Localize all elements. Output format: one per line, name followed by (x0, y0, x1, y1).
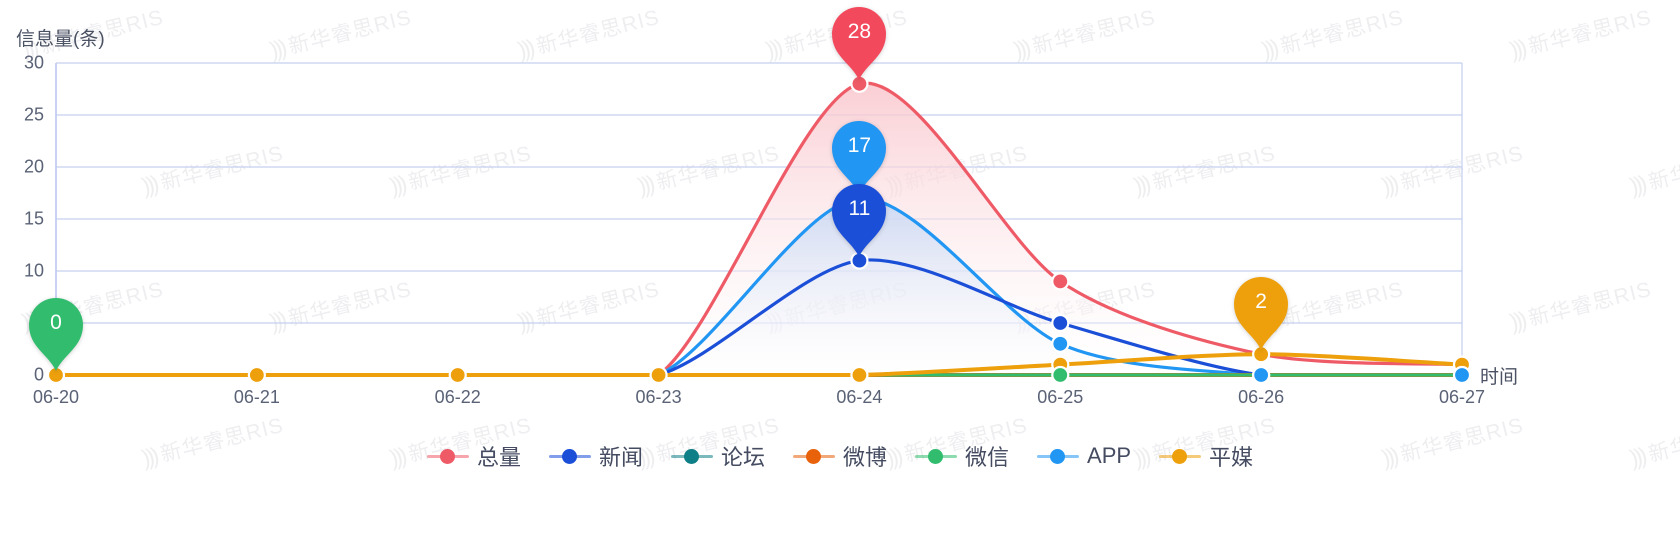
balloon-shape (830, 4, 888, 80)
x-axis-title: 时间 (1480, 362, 1518, 389)
legend-item-平媒[interactable]: 平媒 (1159, 440, 1253, 472)
legend-label: 总量 (477, 440, 521, 472)
x-tick-label: 06-21 (234, 387, 280, 408)
data-label-balloon[interactable]: 28 (830, 4, 888, 80)
y-tick-label: 25 (0, 105, 44, 126)
data-label-balloon[interactable]: 0 (27, 295, 85, 371)
y-tick-label: 10 (0, 261, 44, 282)
x-tick-label: 06-26 (1238, 387, 1284, 408)
legend-marker-icon (549, 446, 591, 466)
balloon-shape (27, 295, 85, 371)
y-tick-label: 15 (0, 209, 44, 230)
legend-item-微信[interactable]: 微信 (915, 440, 1009, 472)
legend-item-新闻[interactable]: 新闻 (549, 440, 643, 472)
data-point[interactable] (1253, 367, 1269, 383)
legend-label: 微博 (843, 440, 887, 472)
x-tick-label: 06-20 (33, 387, 79, 408)
data-point[interactable] (1052, 367, 1068, 383)
legend-item-微博[interactable]: 微博 (793, 440, 887, 472)
data-point[interactable] (1052, 273, 1068, 289)
chart-container: )))新华睿思RIS)))新华睿思RIS)))新华睿思RIS)))新华睿思RIS… (0, 0, 1680, 533)
legend-marker-icon (1159, 446, 1201, 466)
data-point[interactable] (651, 367, 667, 383)
data-point[interactable] (1052, 315, 1068, 331)
legend-label: APP (1087, 443, 1131, 469)
balloon-shape (1232, 274, 1290, 350)
balloon-shape (830, 181, 888, 257)
legend-item-APP[interactable]: APP (1037, 443, 1131, 469)
legend-label: 平媒 (1209, 440, 1253, 472)
data-point[interactable] (851, 367, 867, 383)
y-axis-title: 信息量(条) (16, 24, 105, 51)
data-point[interactable] (450, 367, 466, 383)
data-point[interactable] (249, 367, 265, 383)
legend-label: 新闻 (599, 440, 643, 472)
legend-item-论坛[interactable]: 论坛 (671, 440, 765, 472)
data-point[interactable] (1454, 367, 1470, 383)
y-tick-label: 30 (0, 53, 44, 74)
legend-marker-icon (793, 446, 835, 466)
x-tick-label: 06-25 (1037, 387, 1083, 408)
legend-marker-icon (1037, 446, 1079, 466)
legend-item-总量[interactable]: 总量 (427, 440, 521, 472)
x-tick-label: 06-24 (836, 387, 882, 408)
legend-label: 微信 (965, 440, 1009, 472)
data-label-balloon[interactable]: 2 (1232, 274, 1290, 350)
legend-marker-icon (915, 446, 957, 466)
legend-label: 论坛 (721, 440, 765, 472)
x-tick-label: 06-22 (435, 387, 481, 408)
x-tick-label: 06-27 (1439, 387, 1485, 408)
x-tick-label: 06-23 (636, 387, 682, 408)
chart-legend: 总量新闻论坛微博微信APP平媒 (0, 440, 1680, 472)
legend-marker-icon (671, 446, 713, 466)
data-point[interactable] (1052, 336, 1068, 352)
data-label-balloon[interactable]: 11 (830, 181, 888, 257)
y-tick-label: 20 (0, 157, 44, 178)
legend-marker-icon (427, 446, 469, 466)
